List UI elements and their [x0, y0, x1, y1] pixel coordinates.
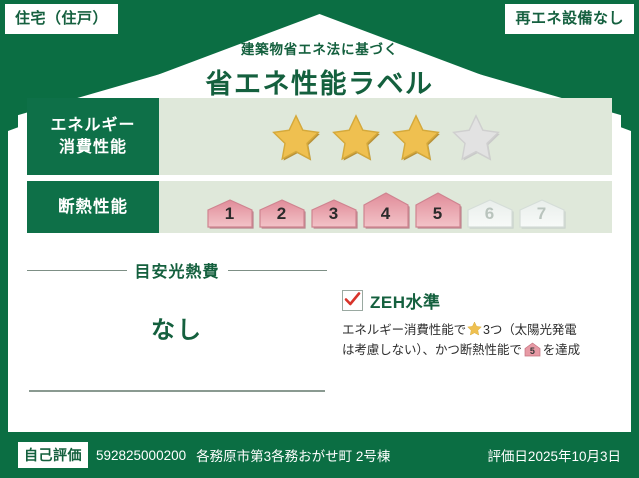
house-level-number: 6: [465, 204, 515, 224]
zeh-title: ZEH水準: [370, 288, 441, 313]
star-empty-icon: [451, 113, 501, 161]
star-filled-icon: [331, 113, 381, 161]
utility-cost-title: 目安光熱費: [135, 258, 220, 282]
zeh-desc-star-count: 3つ（太陽光発電: [483, 323, 577, 337]
title-subtitle: 建築物省エネ法に基づく: [0, 38, 639, 58]
title-block: 建築物省エネ法に基づく 省エネ性能ラベル: [0, 38, 639, 101]
house-level-number: 4: [361, 204, 411, 224]
utility-cost-heading: 目安光熱費: [27, 258, 327, 282]
house-level-number: 2: [257, 204, 307, 224]
row-label-energy-line1: エネルギー: [50, 115, 135, 137]
utility-cost-value: なし: [27, 310, 327, 345]
house-level-3: 3: [309, 198, 359, 229]
zeh-desc-part2: は考慮しない）、かつ断熱性能で: [342, 343, 522, 357]
check-icon: [344, 291, 361, 308]
row-label-energy: エネルギー 消費性能: [27, 98, 159, 175]
footer-evaluation-date: 評価日2025年10月3日: [487, 445, 621, 465]
energy-performance-label: 住宅（住戸） 再エネ設備なし 建築物省エネ法に基づく 省エネ性能ラベル エネルギ…: [0, 0, 639, 478]
utility-cost-bottom-divider: [29, 390, 325, 392]
page-title: 省エネ性能ラベル: [0, 62, 639, 101]
house-level-1: 1: [205, 198, 255, 229]
divider-left: [27, 270, 127, 271]
zeh-description: エネルギー消費性能で3つ（太陽光発電は考慮しない）、かつ断熱性能で5を達成: [342, 320, 604, 360]
house-level-4: 4: [361, 191, 411, 229]
zeh-section: ZEH水準 エネルギー消費性能で3つ（太陽光発電は考慮しない）、かつ断熱性能で5…: [342, 288, 604, 360]
house-level-2: 2: [257, 198, 307, 229]
footer-id: 592825000200: [96, 448, 186, 463]
house-level-5: 5: [413, 191, 463, 229]
divider-right: [228, 270, 328, 271]
house-icon-number: 5: [524, 344, 541, 358]
house-level-number: 5: [413, 204, 463, 224]
house-icon-inline: 5: [524, 342, 541, 357]
utility-cost-section: 目安光熱費 なし: [27, 258, 327, 345]
star-rating: [159, 98, 612, 175]
house-level-7: 7: [517, 198, 567, 229]
zeh-desc-part1: エネルギー消費性能で: [342, 323, 466, 337]
house-rating: 1234567: [159, 181, 612, 233]
zeh-heading: ZEH水準: [342, 288, 604, 313]
zeh-desc-part3: を達成: [543, 343, 580, 357]
self-evaluation-badge: 自己評価: [18, 442, 88, 468]
footer: 自己評価 592825000200 各務原市第3各務おがせ町 2号棟 評価日20…: [0, 432, 639, 478]
star-icon: [467, 321, 482, 336]
badge-renewable-energy: 再エネ設備なし: [505, 4, 634, 34]
house-level-6: 6: [465, 198, 515, 229]
row-label-insulation-text: 断熱性能: [58, 196, 128, 218]
row-label-insulation: 断熱性能: [27, 181, 159, 233]
row-label-energy-line2: 消費性能: [59, 137, 127, 159]
star-filled-icon: [271, 113, 321, 161]
zeh-checkbox[interactable]: [342, 290, 363, 311]
footer-address: 各務原市第3各務おがせ町 2号棟: [196, 445, 390, 465]
row-energy-performance: エネルギー 消費性能: [27, 98, 612, 175]
performance-rows: エネルギー 消費性能 断熱性能 1234567: [27, 98, 612, 233]
badge-building-type: 住宅（住戸）: [5, 4, 118, 34]
house-level-number: 1: [205, 204, 255, 224]
house-level-number: 3: [309, 204, 359, 224]
star-filled-icon: [391, 113, 441, 161]
house-level-number: 7: [517, 204, 567, 224]
row-insulation-performance: 断熱性能 1234567: [27, 181, 612, 233]
footer-inner: 自己評価 592825000200 各務原市第3各務おがせ町 2号棟 評価日20…: [0, 442, 639, 468]
